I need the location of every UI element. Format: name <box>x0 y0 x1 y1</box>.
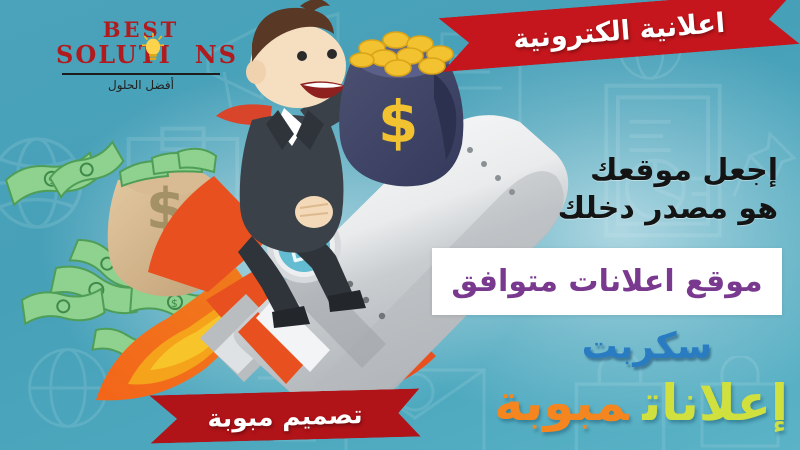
ribbon-bottom: تصميم مبوبة <box>149 388 420 443</box>
money-bag-cash-icon: $ <box>108 149 224 297</box>
headline-line-2: هو مصدر دخلك <box>398 190 778 228</box>
svg-text:$: $ <box>146 177 185 242</box>
wordmark-ads: إعلانات <box>642 374 788 432</box>
svg-text:$: $ <box>170 297 178 310</box>
headline-line-1: إجعل موقعك <box>398 152 778 190</box>
promo-banner: $ <box>0 0 800 450</box>
globe-icon <box>0 128 92 238</box>
clipboard-check-icon <box>118 126 248 276</box>
svg-text:$: $ <box>47 173 58 188</box>
logo-line-2-suffix: NS <box>195 40 238 69</box>
svg-text:$: $ <box>378 262 403 308</box>
businessman-icon <box>216 0 397 328</box>
logo: BEST SOLUTIONS أفضل الحلول <box>56 18 226 92</box>
lightbulb-icon <box>142 33 164 63</box>
wordmark-line-2: إعلاناتمبوبة <box>494 374 788 432</box>
subtitle-box: موقع اعلانات متوافق <box>432 248 782 315</box>
banknote-icon: $ $ <box>4 139 220 365</box>
arrow-badge-icon <box>289 228 324 260</box>
ribbon-bottom-label: تصميم مبوبة <box>207 399 363 432</box>
wordmark-classified: مبوبة <box>494 374 628 432</box>
subtitle-text: موقع اعلانات متوافق <box>451 264 762 299</box>
wordmark-script: سكربت <box>582 326 712 367</box>
globe-icon <box>20 340 116 436</box>
logo-line-2: SOLUTIONS <box>56 42 226 68</box>
logo-divider <box>62 73 220 75</box>
ribbon-top: اعلانية الكترونية <box>438 0 799 72</box>
logo-tagline: أفضل الحلول <box>56 78 226 92</box>
svg-text:$: $ <box>378 88 418 156</box>
logo-line-1: BEST <box>56 18 226 42</box>
ribbon-top-label: اعلانية الكترونية <box>512 7 726 55</box>
headline: إجعل موقعك هو مصدر دخلك <box>398 152 778 229</box>
